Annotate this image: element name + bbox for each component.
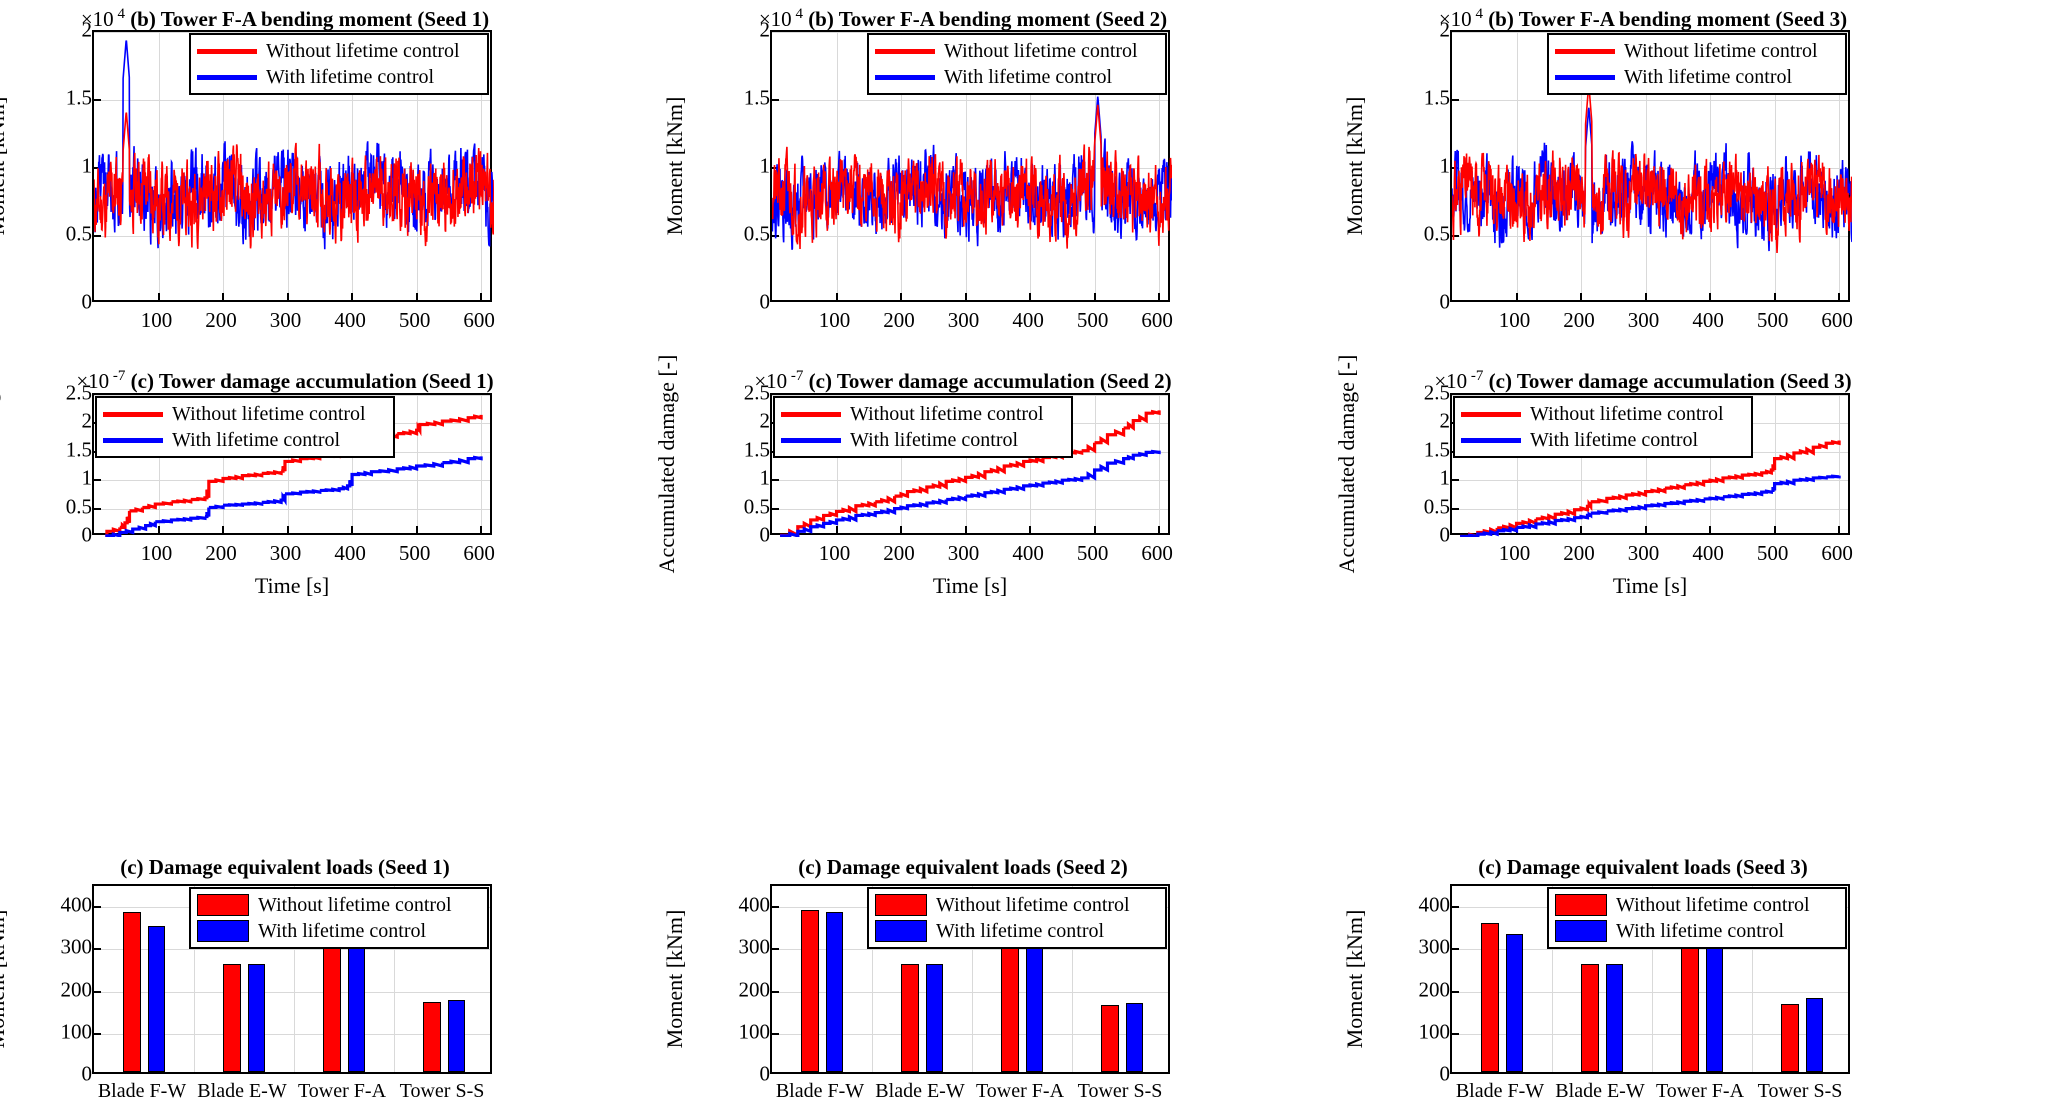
y-axis-tick-label: 2 bbox=[1372, 409, 1457, 434]
x-axis-tick-label: 300 bbox=[1628, 541, 1660, 566]
legend-label: With lifetime control bbox=[1530, 430, 1698, 450]
bar-without-blade-e-w bbox=[223, 964, 241, 1072]
legend-item-without-lifetime-control: Without lifetime control bbox=[197, 892, 479, 918]
y-axis-tick-label: 0.5 bbox=[1372, 222, 1457, 247]
y-axis-tick-label: 0 bbox=[1372, 1062, 1457, 1087]
x-axis-category-label: Blade E-W bbox=[1555, 1080, 1644, 1103]
legend-item-with-lifetime-control: With lifetime control bbox=[875, 64, 1157, 90]
legend-item-without-lifetime-control: Without lifetime control bbox=[875, 38, 1157, 64]
legend-label: With lifetime control bbox=[266, 67, 434, 87]
panel-title-row2-seed3: ×10 -7 (c) Tower damage accumulation (Se… bbox=[1388, 368, 1898, 394]
legend-swatch bbox=[1461, 438, 1521, 443]
y-axis-tick-label: 1.5 bbox=[692, 437, 777, 462]
legend-row2-seed3: Without lifetime controlWith lifetime co… bbox=[1453, 396, 1753, 458]
panel-title-row1-seed3: ×10 4 (b) Tower F-A bending moment (Seed… bbox=[1388, 6, 1898, 32]
panel-title-text: (b) Tower F-A bending moment (Seed 2) bbox=[803, 7, 1167, 31]
legend-row1-seed2: Without lifetime controlWith lifetime co… bbox=[867, 33, 1167, 95]
bar-with-tower-f-a bbox=[1026, 935, 1044, 1072]
x-axis-tick-label: 500 bbox=[399, 308, 431, 333]
bar-without-blade-e-w bbox=[1581, 964, 1599, 1073]
bar-without-tower-s-s bbox=[1101, 1005, 1119, 1072]
legend-swatch bbox=[197, 49, 257, 54]
legend-swatch bbox=[103, 438, 163, 443]
y-axis-label: Moment [kNm] bbox=[0, 910, 10, 1049]
x-axis-tick-label: 100 bbox=[1499, 541, 1531, 566]
x-axis-category-label: Tower F-A bbox=[976, 1080, 1064, 1103]
y-axis-tick-label: 1 bbox=[692, 466, 777, 491]
legend-label: Without lifetime control bbox=[258, 895, 452, 915]
y-axis-tick-label: 200 bbox=[692, 977, 777, 1002]
y-axis-tick-label: 1.5 bbox=[14, 437, 99, 462]
legend-row2-seed1: Without lifetime controlWith lifetime co… bbox=[95, 396, 395, 458]
x-axis-tick-label: 500 bbox=[399, 541, 431, 566]
panel-title-row3-seed2: (c) Damage equivalent loads (Seed 2) bbox=[708, 855, 1218, 880]
legend-swatch bbox=[103, 412, 163, 417]
x-axis-tick-label: 300 bbox=[270, 308, 302, 333]
panel-title-text: (c) Tower damage accumulation (Seed 1) bbox=[125, 369, 493, 393]
legend-label: Without lifetime control bbox=[172, 404, 366, 424]
panel-title-row1-seed1: ×10 4 (b) Tower F-A bending moment (Seed… bbox=[30, 6, 540, 32]
legend-label: Without lifetime control bbox=[1530, 404, 1724, 424]
x-axis-tick-label: 600 bbox=[463, 308, 495, 333]
legend-row3-seed1: Without lifetime controlWith lifetime co… bbox=[189, 887, 489, 949]
panel-title-row3-seed1: (c) Damage equivalent loads (Seed 1) bbox=[30, 855, 540, 880]
y-axis-tick-label: 1 bbox=[14, 154, 99, 179]
x-axis-category-label: Tower F-A bbox=[298, 1080, 386, 1103]
legend-label: With lifetime control bbox=[850, 430, 1018, 450]
y-axis-tick-label: 1.5 bbox=[1372, 437, 1457, 462]
x-axis-tick-label: 400 bbox=[1012, 308, 1044, 333]
panel-title-text: (c) Tower damage accumulation (Seed 3) bbox=[1483, 369, 1851, 393]
y-axis-tick-label: 2 bbox=[1372, 18, 1457, 43]
x-axis-category-label: Tower S-S bbox=[1758, 1080, 1843, 1103]
x-axis-tick-label: 600 bbox=[463, 541, 495, 566]
y-axis-label: Accumulated damage [-] bbox=[1334, 355, 1360, 574]
legend-item-without-lifetime-control: Without lifetime control bbox=[875, 892, 1157, 918]
x-axis-tick-label: 600 bbox=[1821, 541, 1853, 566]
bar-with-blade-f-w bbox=[148, 926, 166, 1072]
legend-item-with-lifetime-control: With lifetime control bbox=[1461, 427, 1743, 453]
x-axis-label: Time [s] bbox=[933, 573, 1007, 599]
x-axis-tick-label: 600 bbox=[1141, 308, 1173, 333]
x-axis-category-label: Blade F-W bbox=[98, 1080, 186, 1103]
bar-without-tower-s-s bbox=[1781, 1004, 1799, 1072]
x-axis-tick-label: 400 bbox=[334, 308, 366, 333]
legend-item-without-lifetime-control: Without lifetime control bbox=[1555, 38, 1837, 64]
bar-without-blade-f-w bbox=[801, 910, 819, 1072]
legend-label: Without lifetime control bbox=[936, 895, 1130, 915]
legend-row3-seed3: Without lifetime controlWith lifetime co… bbox=[1547, 887, 1847, 949]
y-axis-tick-label: 300 bbox=[14, 935, 99, 960]
legend-swatch bbox=[781, 412, 841, 417]
y-axis-tick-label: 0 bbox=[1372, 290, 1457, 315]
x-axis-tick-label: 400 bbox=[334, 541, 366, 566]
legend-item-with-lifetime-control: With lifetime control bbox=[1555, 64, 1837, 90]
legend-swatch bbox=[875, 920, 927, 942]
legend-swatch bbox=[781, 438, 841, 443]
legend-swatch bbox=[875, 894, 927, 916]
legend-label: With lifetime control bbox=[172, 430, 340, 450]
x-axis-label: Time [s] bbox=[255, 573, 329, 599]
y-axis-tick-label: 0.5 bbox=[1372, 494, 1457, 519]
y-axis-tick-label: 2 bbox=[692, 409, 777, 434]
x-axis-tick-label: 200 bbox=[205, 308, 237, 333]
y-axis-label: Accumulated damage [-] bbox=[0, 355, 2, 574]
y-axis-tick-label: 0 bbox=[692, 1062, 777, 1087]
legend-swatch bbox=[1555, 49, 1615, 54]
y-axis-tick-label: 200 bbox=[14, 977, 99, 1002]
x-axis-category-label: Tower S-S bbox=[1078, 1080, 1163, 1103]
x-axis-tick-label: 100 bbox=[141, 308, 173, 333]
x-axis-tick-label: 200 bbox=[205, 541, 237, 566]
legend-swatch bbox=[1461, 412, 1521, 417]
y-axis-tick-label: 2.5 bbox=[14, 381, 99, 406]
legend-label: Without lifetime control bbox=[850, 404, 1044, 424]
panel-title-text: (c) Damage equivalent loads (Seed 3) bbox=[1478, 855, 1808, 879]
legend-label: With lifetime control bbox=[1616, 921, 1784, 941]
y-axis-label: Moment [kNm] bbox=[1342, 97, 1368, 236]
x-axis-category-label: Tower F-A bbox=[1656, 1080, 1744, 1103]
bar-with-blade-f-w bbox=[1506, 934, 1524, 1072]
panel-title-row2-seed1: ×10 -7 (c) Tower damage accumulation (Se… bbox=[30, 368, 540, 394]
y-axis-tick-label: 2.5 bbox=[692, 381, 777, 406]
bar-with-tower-f-a bbox=[348, 929, 366, 1072]
y-axis-tick-label: 0 bbox=[692, 290, 777, 315]
y-axis-tick-label: 0.5 bbox=[14, 222, 99, 247]
legend-swatch bbox=[875, 49, 935, 54]
x-axis-tick-label: 300 bbox=[1628, 308, 1660, 333]
y-axis-tick-label: 2 bbox=[14, 18, 99, 43]
y-axis-tick-label: 1 bbox=[692, 154, 777, 179]
legend-label: Without lifetime control bbox=[1616, 895, 1810, 915]
legend-item-with-lifetime-control: With lifetime control bbox=[197, 918, 479, 944]
legend-item-with-lifetime-control: With lifetime control bbox=[103, 427, 385, 453]
panel-title-text: (c) Damage equivalent loads (Seed 1) bbox=[120, 855, 450, 879]
y-axis-tick-label: 1.5 bbox=[692, 86, 777, 111]
y-axis-tick-label: 1 bbox=[14, 466, 99, 491]
y-axis-label: Moment [kNm] bbox=[0, 97, 10, 236]
x-axis-tick-label: 200 bbox=[883, 308, 915, 333]
legend-item-without-lifetime-control: Without lifetime control bbox=[197, 38, 479, 64]
y-axis-tick-label: 0 bbox=[692, 523, 777, 548]
y-axis-label: Moment [kNm] bbox=[662, 910, 688, 1049]
x-axis-label: Time [s] bbox=[1613, 573, 1687, 599]
y-axis-tick-label: 200 bbox=[1372, 977, 1457, 1002]
x-axis-tick-label: 100 bbox=[1499, 308, 1531, 333]
legend-label: With lifetime control bbox=[936, 921, 1104, 941]
x-axis-category-label: Blade E-W bbox=[875, 1080, 964, 1103]
legend-swatch bbox=[875, 75, 935, 80]
legend-swatch bbox=[1555, 920, 1607, 942]
panel-title-row3-seed3: (c) Damage equivalent loads (Seed 3) bbox=[1388, 855, 1898, 880]
x-axis-tick-label: 300 bbox=[948, 308, 980, 333]
y-axis-tick-label: 1 bbox=[1372, 154, 1457, 179]
bar-without-blade-e-w bbox=[901, 964, 919, 1072]
y-axis-label: Accumulated damage [-] bbox=[654, 355, 680, 574]
y-axis-tick-label: 100 bbox=[14, 1019, 99, 1044]
legend-swatch bbox=[197, 920, 249, 942]
bar-with-blade-e-w bbox=[926, 964, 944, 1073]
bar-with-blade-e-w bbox=[1606, 964, 1624, 1073]
y-axis-tick-label: 1.5 bbox=[14, 86, 99, 111]
legend-label: Without lifetime control bbox=[1624, 41, 1818, 61]
y-axis-tick-label: 100 bbox=[1372, 1019, 1457, 1044]
legend-item-with-lifetime-control: With lifetime control bbox=[1555, 918, 1837, 944]
y-axis-tick-label: 0 bbox=[14, 1062, 99, 1087]
x-axis-tick-label: 500 bbox=[1757, 308, 1789, 333]
legend-item-without-lifetime-control: Without lifetime control bbox=[781, 401, 1063, 427]
legend-item-with-lifetime-control: With lifetime control bbox=[197, 64, 479, 90]
x-axis-tick-label: 200 bbox=[883, 541, 915, 566]
panel-title-text: (c) Damage equivalent loads (Seed 2) bbox=[798, 855, 1128, 879]
bar-with-blade-e-w bbox=[248, 964, 266, 1073]
x-axis-tick-label: 400 bbox=[1692, 308, 1724, 333]
x-axis-category-label: Tower S-S bbox=[400, 1080, 485, 1103]
panel-title-text: (c) Tower damage accumulation (Seed 2) bbox=[803, 369, 1171, 393]
legend-label: With lifetime control bbox=[258, 921, 426, 941]
bar-without-blade-f-w bbox=[123, 912, 141, 1072]
y-axis-tick-label: 0.5 bbox=[692, 222, 777, 247]
legend-item-with-lifetime-control: With lifetime control bbox=[781, 427, 1063, 453]
y-axis-tick-label: 400 bbox=[1372, 893, 1457, 918]
y-axis-tick-label: 0 bbox=[14, 523, 99, 548]
bar-with-tower-s-s bbox=[448, 1000, 466, 1072]
legend-row3-seed2: Without lifetime controlWith lifetime co… bbox=[867, 887, 1167, 949]
y-axis-tick-label: 0 bbox=[1372, 523, 1457, 548]
x-axis-tick-label: 500 bbox=[1077, 541, 1109, 566]
x-axis-category-label: Blade F-W bbox=[1456, 1080, 1544, 1103]
x-axis-tick-label: 100 bbox=[819, 541, 851, 566]
legend-row1-seed3: Without lifetime controlWith lifetime co… bbox=[1547, 33, 1847, 95]
x-axis-tick-label: 400 bbox=[1012, 541, 1044, 566]
x-axis-tick-label: 500 bbox=[1757, 541, 1789, 566]
x-axis-tick-label: 500 bbox=[1077, 308, 1109, 333]
panel-title-text: (b) Tower F-A bending moment (Seed 3) bbox=[1483, 7, 1847, 31]
y-axis-tick-label: 2 bbox=[14, 409, 99, 434]
x-axis-tick-label: 100 bbox=[819, 308, 851, 333]
y-axis-tick-label: 100 bbox=[692, 1019, 777, 1044]
y-axis-label: Moment [kNm] bbox=[662, 97, 688, 236]
y-axis-tick-label: 2.5 bbox=[1372, 381, 1457, 406]
y-axis-label: Moment [kNm] bbox=[1342, 910, 1368, 1049]
legend-item-without-lifetime-control: Without lifetime control bbox=[1461, 401, 1743, 427]
legend-item-without-lifetime-control: Without lifetime control bbox=[1555, 892, 1837, 918]
y-axis-tick-label: 0.5 bbox=[692, 494, 777, 519]
bar-without-tower-s-s bbox=[423, 1002, 441, 1073]
x-axis-tick-label: 600 bbox=[1821, 308, 1853, 333]
x-axis-category-label: Blade F-W bbox=[776, 1080, 864, 1103]
legend-label: With lifetime control bbox=[1624, 67, 1792, 87]
legend-item-with-lifetime-control: With lifetime control bbox=[875, 918, 1157, 944]
panel-title-text: (b) Tower F-A bending moment (Seed 1) bbox=[125, 7, 489, 31]
bar-with-tower-f-a bbox=[1706, 947, 1724, 1072]
x-axis-tick-label: 300 bbox=[270, 541, 302, 566]
bar-with-tower-s-s bbox=[1806, 998, 1824, 1072]
x-axis-tick-label: 200 bbox=[1563, 541, 1595, 566]
x-axis-tick-label: 400 bbox=[1692, 541, 1724, 566]
x-axis-category-label: Blade E-W bbox=[197, 1080, 286, 1103]
legend-label: Without lifetime control bbox=[266, 41, 460, 61]
y-axis-tick-label: 2 bbox=[692, 18, 777, 43]
panel-title-row1-seed2: ×10 4 (b) Tower F-A bending moment (Seed… bbox=[708, 6, 1218, 32]
y-axis-tick-label: 1.5 bbox=[1372, 86, 1457, 111]
x-axis-tick-label: 600 bbox=[1141, 541, 1173, 566]
legend-swatch bbox=[1555, 75, 1615, 80]
legend-row1-seed1: Without lifetime controlWith lifetime co… bbox=[189, 33, 489, 95]
x-axis-tick-label: 200 bbox=[1563, 308, 1595, 333]
multi-panel-figure: ×10 4 (b) Tower F-A bending moment (Seed… bbox=[0, 0, 2067, 1107]
y-axis-tick-label: 400 bbox=[14, 893, 99, 918]
legend-swatch bbox=[197, 894, 249, 916]
x-axis-tick-label: 300 bbox=[948, 541, 980, 566]
legend-swatch bbox=[197, 75, 257, 80]
legend-swatch bbox=[1555, 894, 1607, 916]
legend-label: With lifetime control bbox=[944, 67, 1112, 87]
bar-without-tower-f-a bbox=[1681, 931, 1699, 1072]
panel-title-row2-seed2: ×10 -7 (c) Tower damage accumulation (Se… bbox=[708, 368, 1218, 394]
legend-row2-seed2: Without lifetime controlWith lifetime co… bbox=[773, 396, 1073, 458]
y-axis-tick-label: 300 bbox=[692, 935, 777, 960]
y-axis-tick-label: 400 bbox=[692, 893, 777, 918]
bar-with-blade-f-w bbox=[826, 912, 844, 1072]
y-axis-tick-label: 0.5 bbox=[14, 494, 99, 519]
bar-without-blade-f-w bbox=[1481, 923, 1499, 1072]
legend-label: Without lifetime control bbox=[944, 41, 1138, 61]
y-axis-tick-label: 300 bbox=[1372, 935, 1457, 960]
x-axis-tick-label: 100 bbox=[141, 541, 173, 566]
bar-with-tower-s-s bbox=[1126, 1003, 1144, 1072]
legend-item-without-lifetime-control: Without lifetime control bbox=[103, 401, 385, 427]
y-axis-tick-label: 1 bbox=[1372, 466, 1457, 491]
y-axis-tick-label: 0 bbox=[14, 290, 99, 315]
